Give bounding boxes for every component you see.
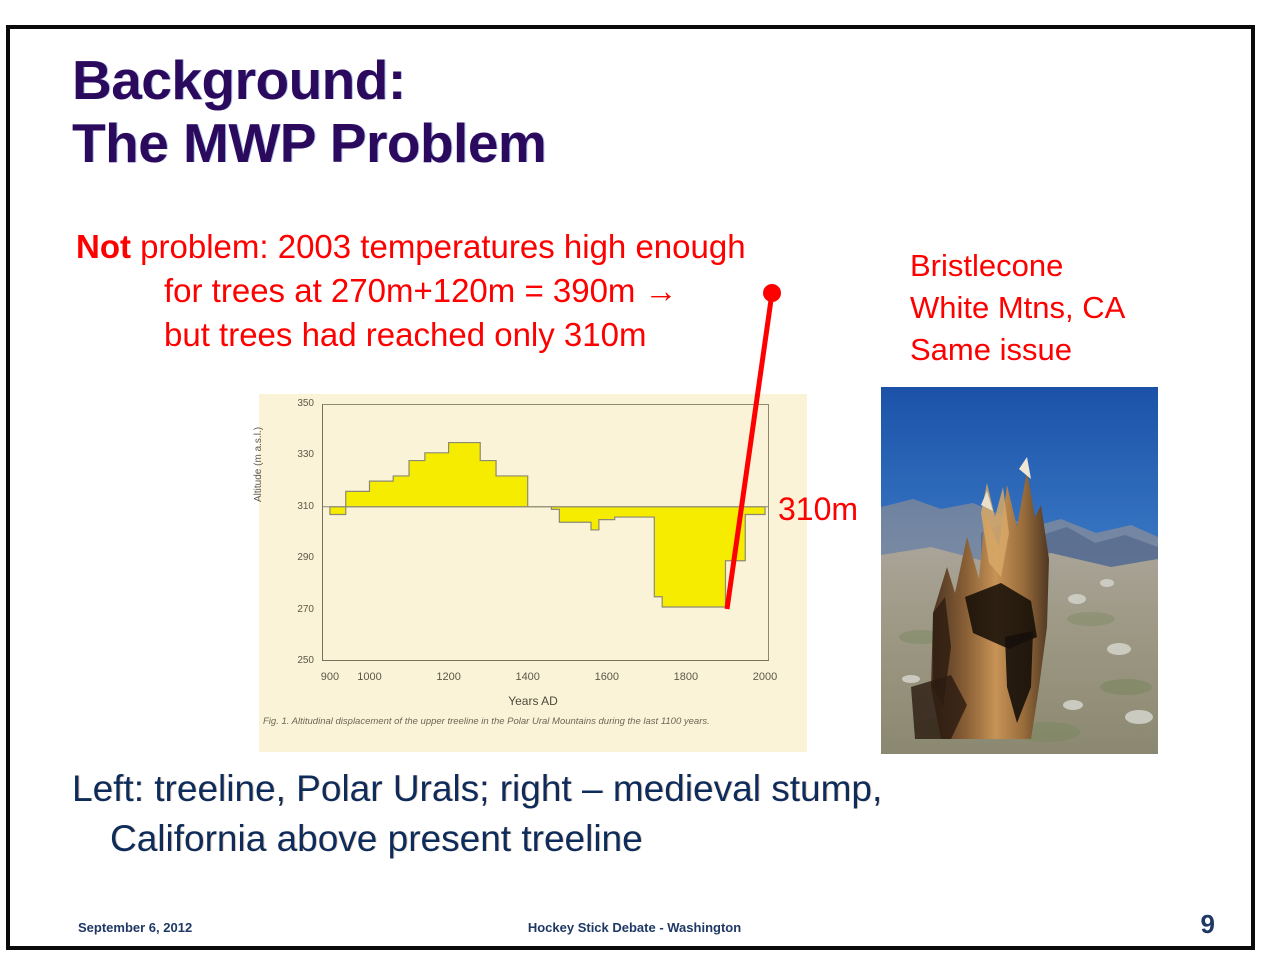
bristlecone-stump-photo	[881, 387, 1158, 754]
chart-x-tick-label: 1800	[674, 671, 698, 683]
chart-x-tick-label: 1200	[436, 671, 460, 683]
bristlecone-line-3: Same issue	[910, 329, 1125, 371]
slide-canvas: Background: The MWP Problem Not problem:…	[6, 25, 1255, 950]
chart-area-series	[330, 443, 765, 607]
chart-y-tick-label: 350	[284, 398, 314, 409]
page-title: Background: The MWP Problem	[72, 49, 772, 175]
chart-y-tick-label: 310	[284, 501, 314, 512]
chart-x-tick-label: 2000	[753, 671, 777, 683]
chart-y-tick-label: 290	[284, 552, 314, 563]
chart-x-tick-label: 1000	[357, 671, 381, 683]
bristlecone-line-1: Bristlecone	[910, 245, 1125, 287]
red-note-line-3: but trees had reached only 310m	[76, 313, 896, 357]
right-arrow-icon: →	[645, 272, 678, 309]
bottom-caption-line-1: Left: treeline, Polar Urals; right – med…	[72, 764, 1152, 814]
red-annotation-block: Not problem: 2003 temperatures high enou…	[76, 225, 896, 357]
pointer-label-310m: 310m	[778, 491, 858, 528]
chart-y-tick-label: 330	[284, 449, 314, 460]
slide-body-caption: Left: treeline, Polar Urals; right – med…	[72, 764, 1152, 864]
chart-y-tick-label: 270	[284, 604, 314, 615]
footer-title: Hockey Stick Debate - Washington	[10, 920, 1255, 935]
footer-page-number: 9	[1201, 909, 1215, 940]
chart-x-tick-label: 900	[321, 671, 339, 683]
title-line-2: The MWP Problem	[72, 112, 772, 175]
chart-plot-area	[322, 404, 769, 661]
chart-caption: Fig. 1. Altitudinal displacement of the …	[263, 716, 803, 728]
chart-y-axis-title: Altitude (m a.s.l.)	[253, 427, 264, 502]
bottom-caption-line-2: California above present treeline	[72, 814, 1152, 864]
treeline-chart-figure: Altitude (m a.s.l.) Years AD 25027029031…	[259, 394, 807, 752]
red-note-line-2: for trees at 270m+120m = 390m →	[76, 269, 896, 313]
bristlecone-annotation-block: Bristlecone White Mtns, CA Same issue	[910, 245, 1125, 371]
brand-logo	[1101, 57, 1255, 277]
chart-y-tick-label: 250	[284, 655, 314, 666]
chart-x-tick-label: 1400	[515, 671, 539, 683]
red-note-line-1-rest: problem: 2003 temperatures high enough	[131, 228, 746, 265]
red-note-line-1: Not problem: 2003 temperatures high enou…	[76, 225, 896, 269]
chart-x-tick-label: 1600	[595, 671, 619, 683]
photo-artwork	[881, 387, 1158, 754]
red-note-line-2-text: for trees at 270m+120m = 390m	[164, 272, 635, 309]
bristlecone-line-2: White Mtns, CA	[910, 287, 1125, 329]
red-note-emphasis: Not	[76, 228, 131, 265]
chart-x-axis-title: Years AD	[259, 694, 807, 708]
chart-series-svg	[322, 404, 769, 661]
title-line-1: Background:	[72, 49, 772, 112]
